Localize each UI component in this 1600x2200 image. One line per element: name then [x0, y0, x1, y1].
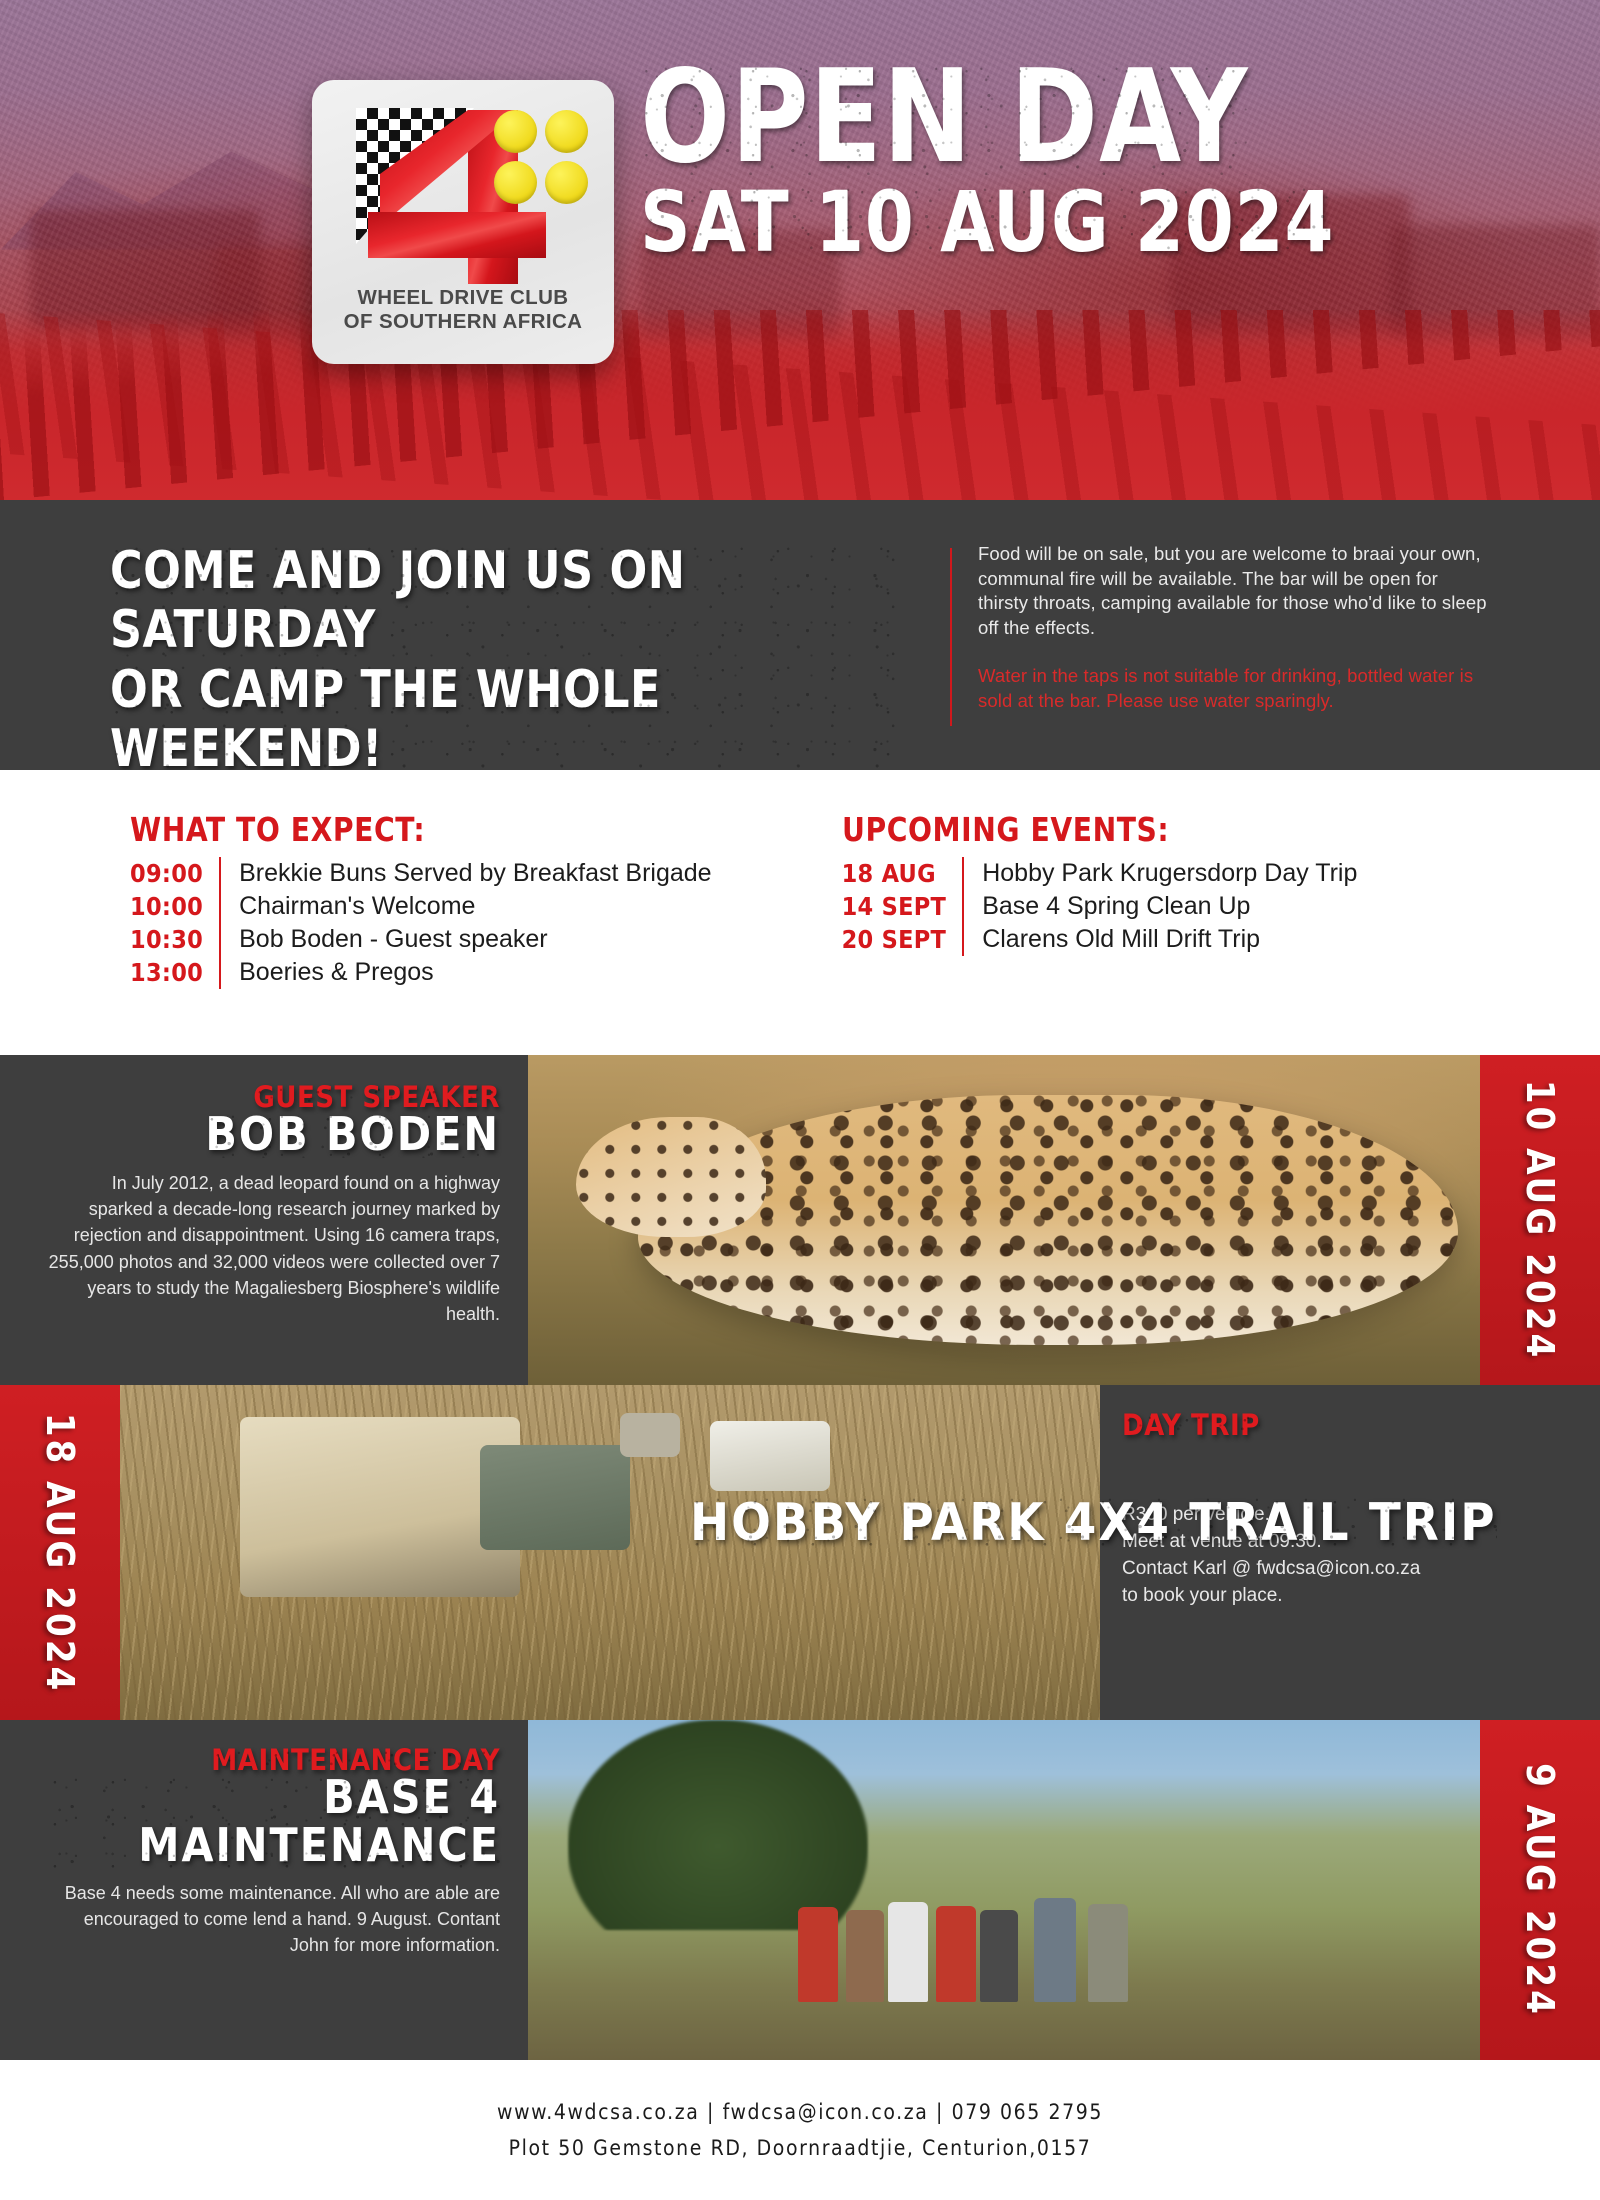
hero-title-block: OPEN DAY SAT 10 AUG 2024 [640, 62, 1600, 262]
band-note: Food will be on sale, but you are welcom… [978, 542, 1488, 640]
vertical-date-label: 10 AUG 2024 [1518, 1080, 1562, 1361]
info-band-right: Food will be on sale, but you are welcom… [978, 542, 1488, 714]
leopard-head [576, 1117, 766, 1237]
feature-title: BOB BODEN [205, 1110, 500, 1158]
event-desc: Hobby Park Krugersdorp Day Trip [963, 857, 1357, 890]
feature-body: Base 4 needs some maintenance. All who a… [48, 1880, 500, 1959]
vertical-divider [950, 548, 952, 726]
dot [545, 161, 588, 204]
leopard-photo [528, 1055, 1480, 1385]
person [1088, 1904, 1128, 2002]
person [888, 1902, 928, 2002]
date-strip-red: 18 AUG 2024 [0, 1385, 120, 1720]
maintenance-photo [528, 1720, 1480, 2060]
feature-title: BASE 4 MAINTENANCE [48, 1773, 500, 1870]
tyre-track-band [0, 310, 1600, 500]
list-item: 09:00 Brekkie Buns Served by Breakfast B… [130, 857, 712, 890]
logo-text-line1: WHEEL DRIVE CLUB [330, 286, 596, 310]
band-warning: Water in the taps is not suitable for dr… [978, 664, 1488, 713]
event-date-label: 14 SEPT [842, 890, 964, 923]
vertical-date-label: 18 AUG 2024 [38, 1412, 82, 1693]
dot [494, 161, 537, 204]
person [1034, 1898, 1076, 2002]
logo-text-line2: OF SOUTHERN AFRICA [330, 310, 596, 334]
footer-address-line: Plot 50 Gemstone RD, Doornraadtjie, Cent… [509, 2136, 1092, 2160]
info-band: COME AND JOIN US ON SATURDAY OR CAMP THE… [0, 500, 1600, 770]
vehicle-icon [240, 1417, 520, 1597]
event-date-label: 18 AUG [842, 857, 964, 890]
shrub [568, 1720, 868, 1930]
feature-guest-speaker: GUEST SPEAKER BOB BODEN In July 2012, a … [0, 1055, 1600, 1385]
date-strip-red: 9 AUG 2024 [1480, 1720, 1600, 2060]
list-item: 14 SEPT Base 4 Spring Clean Up [842, 890, 1358, 923]
schedule-desc: Brekkie Buns Served by Breakfast Brigade [220, 857, 711, 890]
four-dots-icon [494, 110, 588, 204]
list-item: 10:00 Chairman's Welcome [130, 890, 712, 923]
feature-base-4-maintenance: MAINTENANCE DAY BASE 4 MAINTENANCE Base … [0, 1720, 1600, 2060]
feature-hobby-park: 18 AUG 2024 HOBBY PARK 4X4 TRAIL TRIP DA… [0, 1385, 1600, 1720]
vertical-date-label: 9 AUG 2024 [1518, 1763, 1562, 2017]
event-desc: Clarens Old Mill Drift Trip [963, 923, 1357, 956]
leopard-body [638, 1095, 1458, 1345]
list-item: 20 SEPT Clarens Old Mill Drift Trip [842, 923, 1358, 956]
person [980, 1910, 1018, 2002]
schedule-time: 10:30 [130, 923, 220, 956]
logo-mark [330, 102, 596, 282]
band-headline-line2: OR CAMP THE WHOLE WEEKEND! [110, 661, 908, 780]
what-to-expect-list: 09:00 Brekkie Buns Served by Breakfast B… [130, 857, 712, 989]
event-desc: Base 4 Spring Clean Up [963, 890, 1357, 923]
schedule-desc: Boeries & Pregos [220, 956, 711, 989]
list-item: 13:00 Boeries & Pregos [130, 956, 712, 989]
schedule-time: 09:00 [130, 857, 220, 890]
band-headline-line1: COME AND JOIN US ON SATURDAY [110, 542, 908, 661]
feature-text-block: MAINTENANCE DAY BASE 4 MAINTENANCE Base … [0, 1720, 528, 2060]
feature-text-block: GUEST SPEAKER BOB BODEN In July 2012, a … [0, 1055, 528, 1385]
what-to-expect-title: WHAT TO EXPECT: [130, 810, 682, 849]
feature-title: HOBBY PARK 4X4 TRAIL TRIP [690, 1493, 1497, 1553]
what-to-expect-column: WHAT TO EXPECT: 09:00 Brekkie Buns Serve… [130, 810, 712, 1055]
hero-banner: WHEEL DRIVE CLUB OF SOUTHERN AFRICA OPEN… [0, 0, 1600, 500]
schedule-desc: Bob Boden - Guest speaker [220, 923, 711, 956]
list-item: 10:30 Bob Boden - Guest speaker [130, 923, 712, 956]
dot [494, 110, 537, 153]
date-strip-red: 10 AUG 2024 [1480, 1055, 1600, 1385]
event-date: SAT 10 AUG 2024 [640, 183, 1334, 263]
page-title: OPEN DAY [640, 62, 1248, 175]
schedule-desc: Chairman's Welcome [220, 890, 711, 923]
schedule-time: 10:00 [130, 890, 220, 923]
person [936, 1906, 976, 2002]
person [798, 1907, 838, 2002]
dot [545, 110, 588, 153]
schedule-time: 13:00 [130, 956, 220, 989]
vehicle-icon [710, 1421, 830, 1491]
club-logo: WHEEL DRIVE CLUB OF SOUTHERN AFRICA [312, 80, 614, 364]
vehicle-icon [620, 1413, 680, 1457]
footer-contact-line: www.4wdcsa.co.za | fwdcsa@icon.co.za | 0… [497, 2100, 1103, 2124]
feature-kicker: DAY TRIP [1122, 1411, 1260, 1440]
feature-body: In July 2012, a dead leopard found on a … [48, 1170, 500, 1327]
event-date-label: 20 SEPT [842, 923, 964, 956]
schedule-section: WHAT TO EXPECT: 09:00 Brekkie Buns Serve… [0, 770, 1600, 1055]
person [846, 1910, 884, 2002]
footer: www.4wdcsa.co.za | fwdcsa@icon.co.za | 0… [0, 2060, 1600, 2200]
list-item: 18 AUG Hobby Park Krugersdorp Day Trip [842, 857, 1358, 890]
upcoming-events-column: UPCOMING EVENTS: 18 AUG Hobby Park Kruge… [842, 810, 1358, 1055]
vehicle-icon [480, 1445, 630, 1550]
upcoming-events-title: UPCOMING EVENTS: [842, 810, 1332, 849]
upcoming-events-list: 18 AUG Hobby Park Krugersdorp Day Trip 1… [842, 857, 1358, 956]
